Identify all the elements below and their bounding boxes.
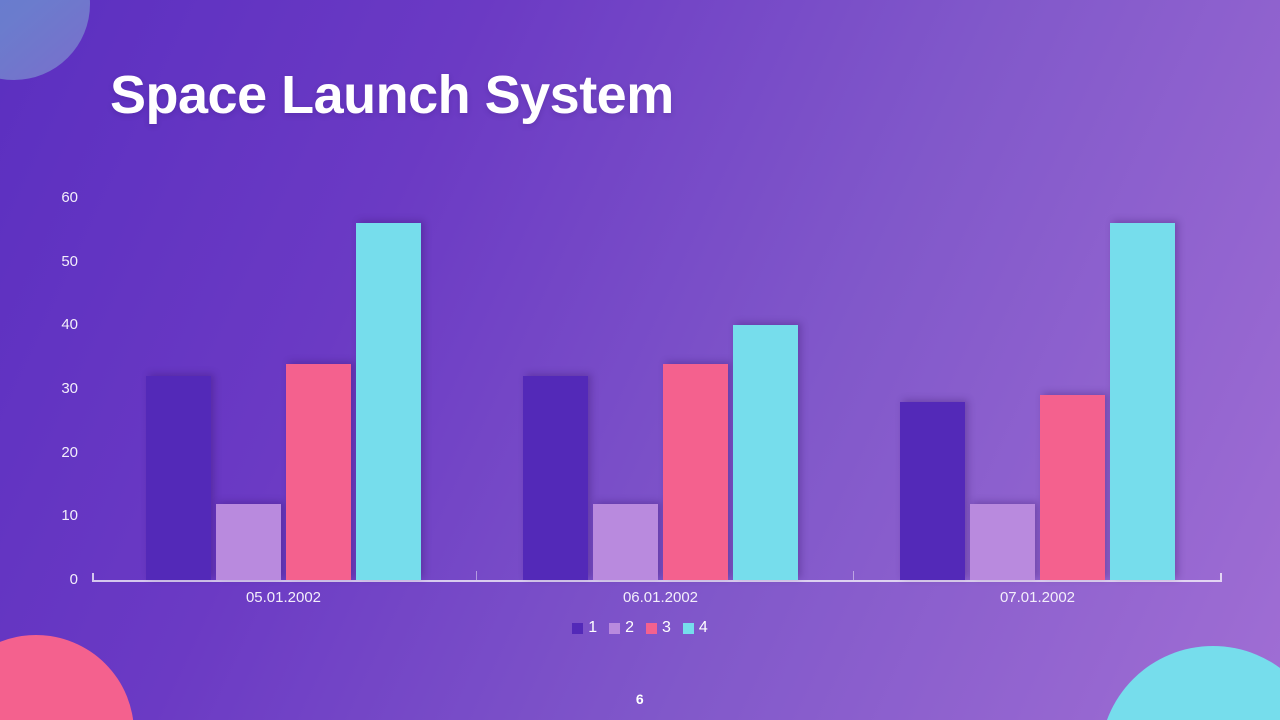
y-axis-tick-label: 10 bbox=[32, 508, 78, 523]
chart-bar bbox=[1040, 395, 1105, 580]
legend-label: 1 bbox=[588, 620, 597, 636]
x-axis-tick-label: 07.01.2002 bbox=[928, 589, 1148, 606]
x-axis-end-cap bbox=[92, 573, 94, 580]
bar-chart: 0102030405060 05.01.200206.01.200207.01.… bbox=[0, 0, 1280, 720]
legend-label: 4 bbox=[699, 620, 708, 636]
legend-item[interactable]: 2 bbox=[609, 620, 634, 636]
legend-swatch-icon bbox=[572, 623, 583, 634]
legend-label: 2 bbox=[625, 620, 634, 636]
chart-bar bbox=[900, 402, 965, 580]
chart-bar bbox=[593, 504, 658, 580]
legend-item[interactable]: 1 bbox=[572, 620, 597, 636]
chart-bar bbox=[356, 223, 421, 580]
x-axis-end-cap bbox=[1220, 573, 1222, 580]
chart-bar bbox=[146, 376, 211, 580]
chart-bar bbox=[733, 325, 798, 580]
y-axis-tick-label: 20 bbox=[32, 445, 78, 460]
chart-bar bbox=[663, 364, 728, 580]
legend-item[interactable]: 3 bbox=[646, 620, 671, 636]
y-axis-tick-label: 0 bbox=[32, 572, 78, 587]
legend-swatch-icon bbox=[609, 623, 620, 634]
chart-bar bbox=[286, 364, 351, 580]
x-axis-tick-mark bbox=[853, 571, 854, 580]
y-axis-tick-label: 50 bbox=[32, 254, 78, 269]
chart-bar bbox=[970, 504, 1035, 580]
y-axis-tick-label: 40 bbox=[32, 317, 78, 332]
chart-bar bbox=[523, 376, 588, 580]
page-number: 6 bbox=[0, 691, 1280, 707]
legend-item[interactable]: 4 bbox=[683, 620, 708, 636]
chart-bar bbox=[216, 504, 281, 580]
y-axis-tick-label: 60 bbox=[32, 190, 78, 205]
y-axis-tick-label: 30 bbox=[32, 381, 78, 396]
x-axis-line bbox=[92, 580, 1222, 582]
legend-swatch-icon bbox=[646, 623, 657, 634]
x-axis-tick-mark bbox=[476, 571, 477, 580]
chart-bar bbox=[1110, 223, 1175, 580]
chart-legend: 1234 bbox=[0, 620, 1280, 636]
x-axis-tick-label: 05.01.2002 bbox=[174, 589, 394, 606]
legend-swatch-icon bbox=[683, 623, 694, 634]
legend-label: 3 bbox=[662, 620, 671, 636]
x-axis-tick-label: 06.01.2002 bbox=[551, 589, 771, 606]
